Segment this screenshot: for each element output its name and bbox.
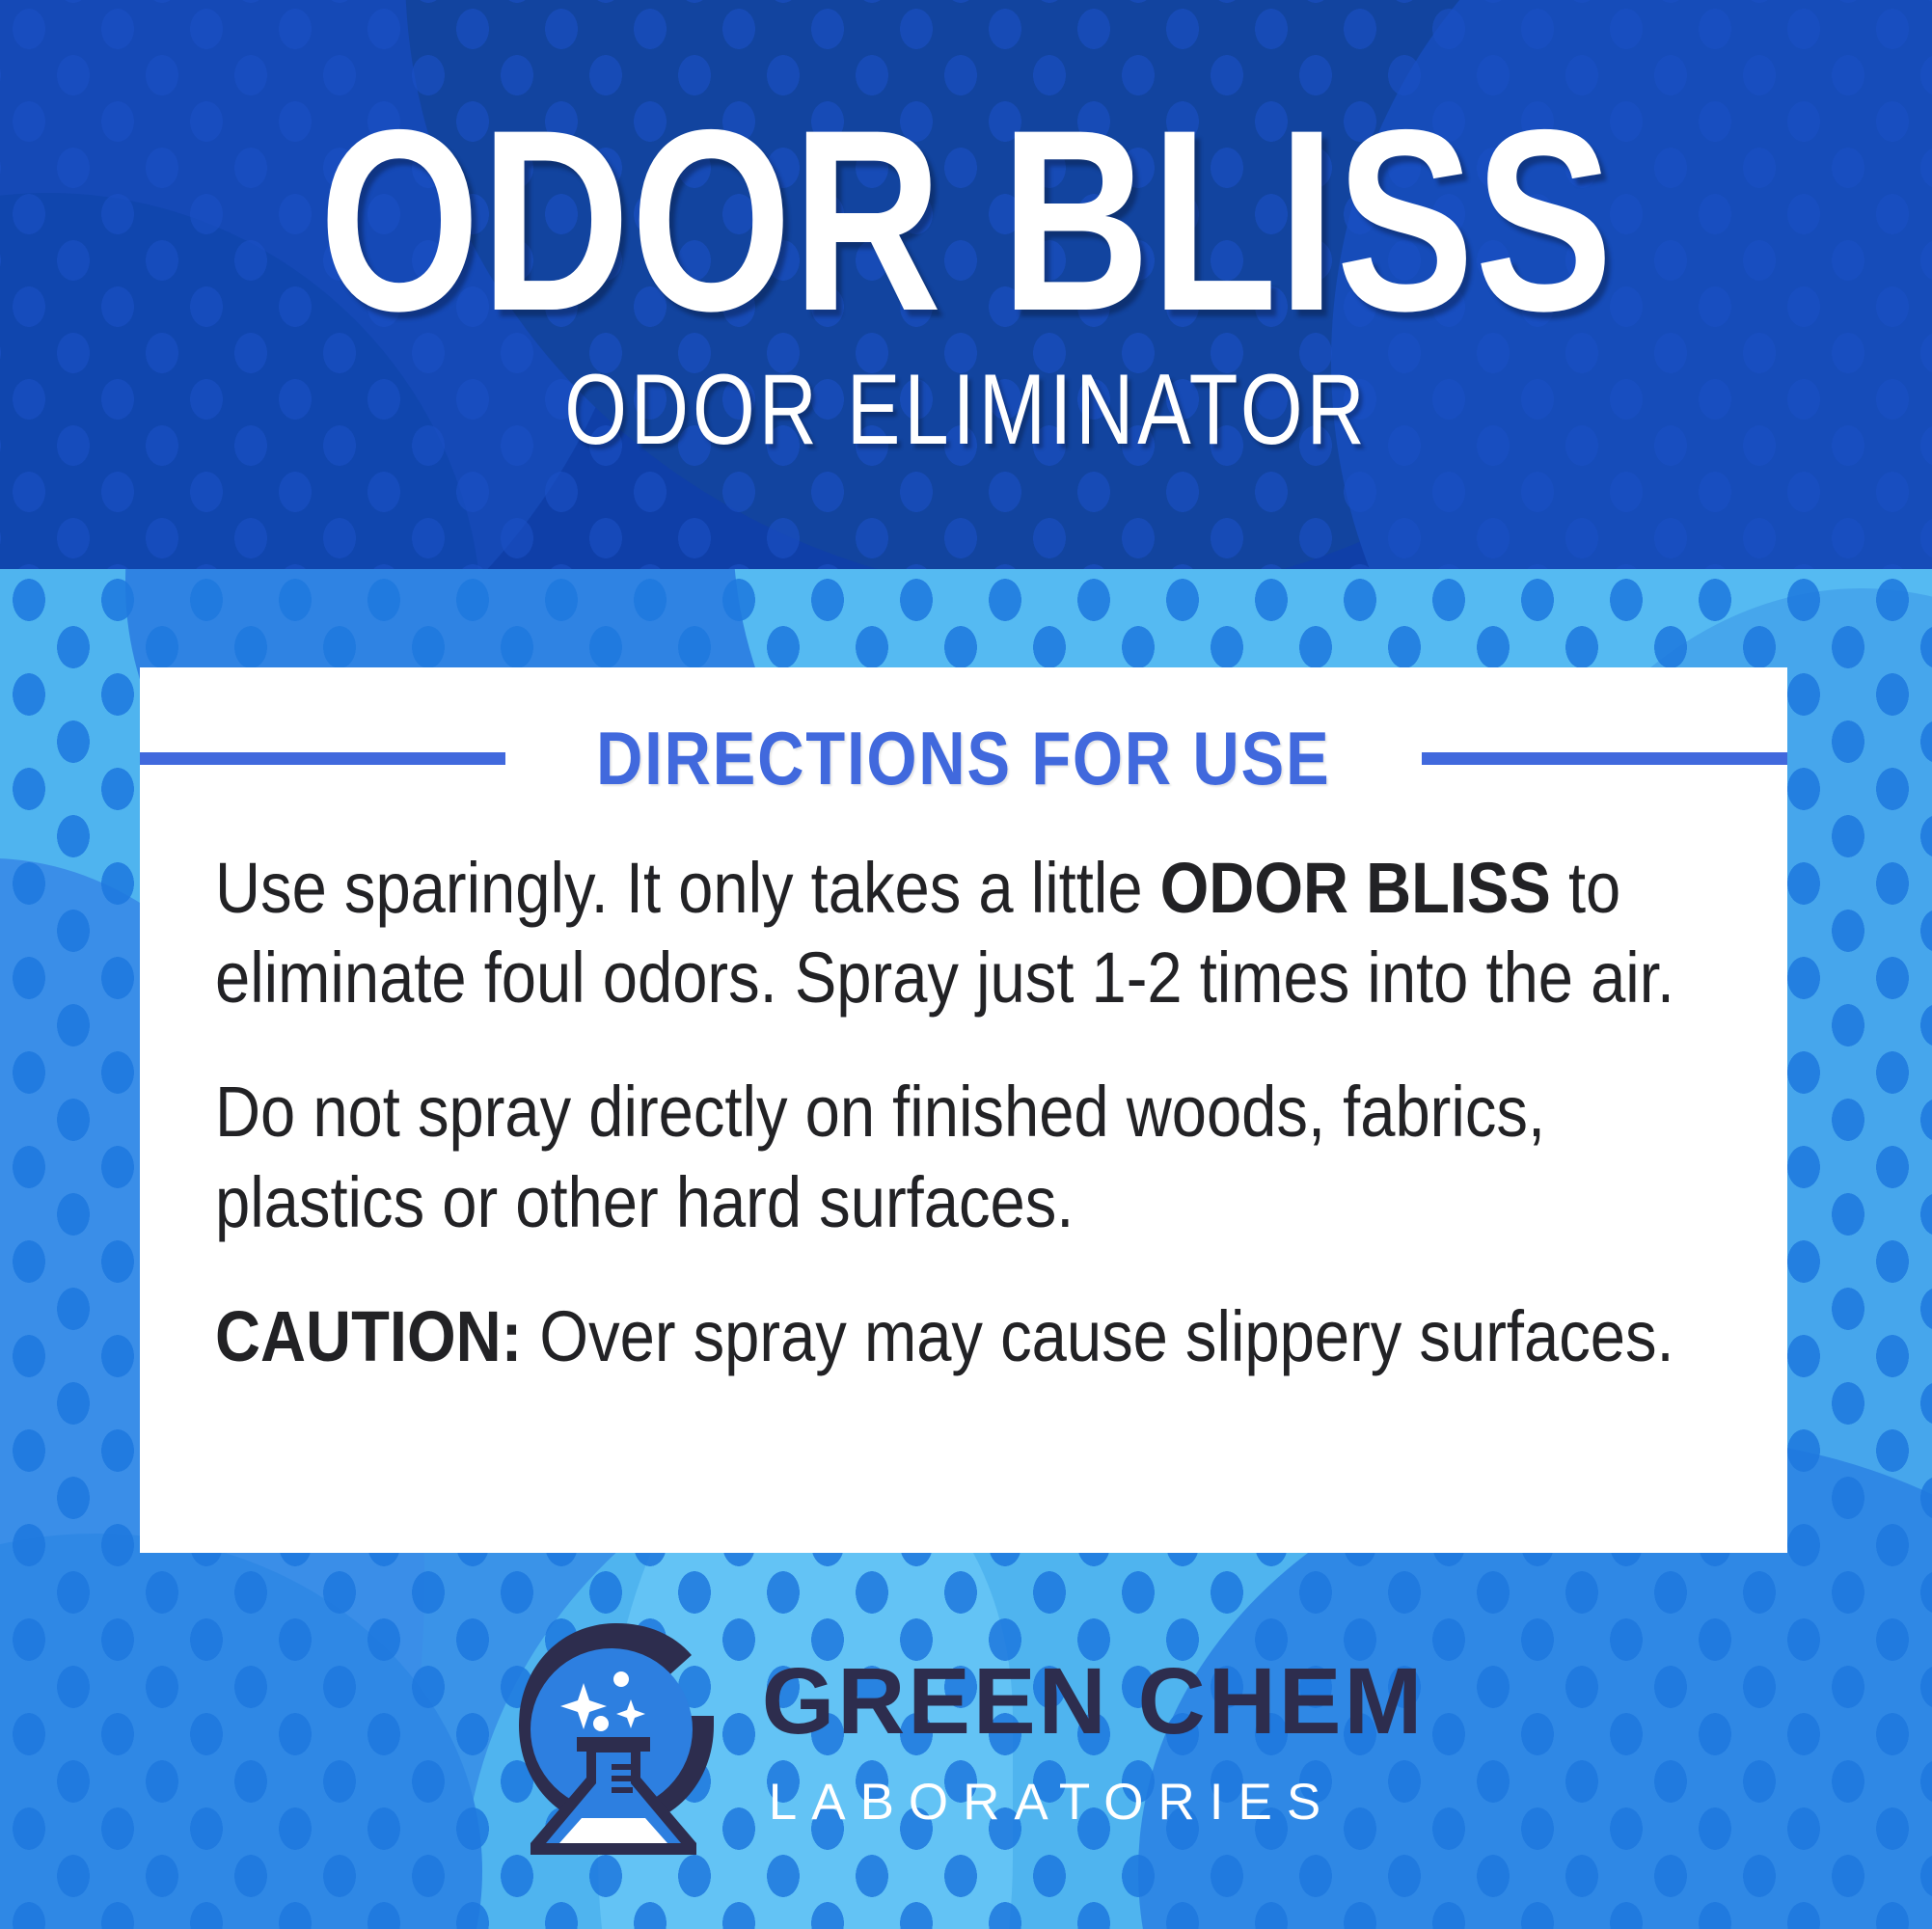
brand-subtitle: LABORATORIES: [769, 1777, 1335, 1828]
product-title: ODOR BLISS: [318, 101, 1613, 340]
brand-logo: GREEN CHEM LABORATORIES: [0, 1591, 1932, 1881]
flask-mark-3: [612, 1787, 633, 1793]
direction-paragraph-surfaces: Do not spray directly on finished woods,…: [215, 1067, 1711, 1246]
caution-text: Over spray may cause slippery surfaces.: [522, 1296, 1673, 1376]
surfaces-text: Do not spray directly on finished woods,…: [215, 1072, 1545, 1241]
direction-paragraph-usage: Use sparingly. It only takes a little OD…: [215, 843, 1711, 1022]
directions-card: DIRECTIONS FOR USE Use sparingly. It onl…: [140, 667, 1787, 1553]
directions-text-block: Use sparingly. It only takes a little OD…: [215, 843, 1720, 1426]
usage-emphasis-text: ODOR BLISS: [1160, 848, 1551, 928]
header-content: ODOR BLISS ODOR ELIMINATOR: [0, 0, 1932, 569]
product-subtitle: ODOR ELIMINATOR: [564, 353, 1369, 468]
directions-heading: DIRECTIONS FOR USE: [570, 715, 1357, 802]
product-label: ODOR BLISS ODOR ELIMINATOR DIRECTIONS FO…: [0, 0, 1932, 1929]
divider-right: [1422, 752, 1787, 765]
flask-mark-1: [612, 1764, 633, 1770]
sparkle-dot-upper: [613, 1671, 629, 1687]
green-chem-g-flask-icon: [507, 1612, 729, 1861]
flask-mark-2: [612, 1776, 633, 1781]
directions-heading-row: DIRECTIONS FOR USE: [140, 714, 1787, 802]
divider-left: [140, 752, 505, 765]
direction-paragraph-caution: CAUTION: Over spray may cause slippery s…: [215, 1291, 1711, 1381]
usage-pre-text: Use sparingly. It only takes a little: [215, 848, 1160, 928]
sparkle-dot-lower: [593, 1716, 609, 1731]
header-band: ODOR BLISS ODOR ELIMINATOR: [0, 0, 1932, 569]
brand-name: GREEN CHEM: [762, 1654, 1426, 1748]
logo-wordmark: GREEN CHEM LABORATORIES: [762, 1644, 1426, 1828]
caution-label: CAUTION:: [215, 1296, 522, 1376]
